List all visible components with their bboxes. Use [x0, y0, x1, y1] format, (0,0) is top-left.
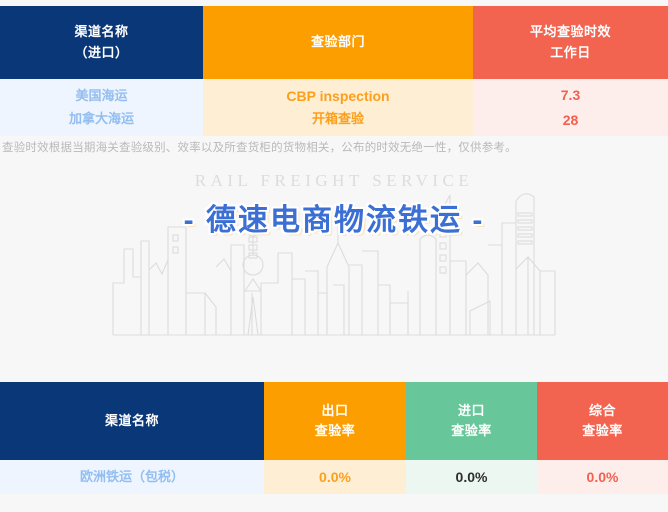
table-header-row: 渠道名称 出口 查验率 进口 查验率 综合 查验率 — [0, 382, 668, 460]
import-rate-value: 0.0% — [456, 469, 488, 485]
cell-channel-name: 美国海运 加拿大海运 — [0, 79, 203, 136]
dept-line-1: CBP inspection — [203, 84, 473, 109]
header-line-2: 查验率 — [264, 421, 406, 441]
days-line-1: 7.3 — [473, 83, 668, 108]
channel-line-1: 美国海运 — [0, 85, 203, 108]
page-root: 渠道名称 （进口） 查验部门 平均查验时效 工作日 美国海运 加拿大海运 — [0, 6, 668, 512]
overall-rate-value: 0.0% — [587, 469, 619, 485]
header-line-2: 查验率 — [537, 421, 668, 441]
cell-inspection-dept: CBP inspection 开箱查验 — [203, 79, 473, 136]
days-line-2: 28 — [473, 108, 668, 133]
banner-title: - 德速电商物流铁运 - — [0, 195, 668, 239]
import-inspection-table: 渠道名称 （进口） 查验部门 平均查验时效 工作日 美国海运 加拿大海运 — [0, 6, 668, 136]
header-line-1: 渠道名称 — [0, 411, 264, 431]
cell-average-time: 7.3 28 — [473, 79, 668, 136]
table-header-row: 渠道名称 （进口） 查验部门 平均查验时效 工作日 — [0, 6, 668, 79]
export-rate-value: 0.0% — [319, 469, 351, 485]
header-line-1: 渠道名称 — [0, 22, 203, 42]
header-line-1: 出口 — [264, 401, 406, 421]
header-line-1: 综合 — [537, 401, 668, 421]
header-cell-channel-name: 渠道名称 （进口） — [0, 6, 203, 79]
header-line-1: 平均查验时效 — [473, 22, 668, 42]
header-cell-overall-rate: 综合 查验率 — [537, 382, 668, 460]
dept-line-2: 开箱查验 — [203, 108, 473, 131]
cell-import-rate: 0.0% — [406, 460, 537, 494]
inspection-rate-table: 渠道名称 出口 查验率 进口 查验率 综合 查验率 欧洲铁运（包税） — [0, 382, 668, 494]
header-cell-import-rate: 进口 查验率 — [406, 382, 537, 460]
channel-line-2: 加拿大海运 — [0, 108, 203, 131]
inspection-disclaimer-note: 查验时效根据当期海关查验级别、效率以及所查货柜的货物相关，公布的时效无绝一性，仅… — [0, 136, 668, 157]
header-line-1: 进口 — [406, 401, 537, 421]
channel-label: 欧洲铁运（包税） — [80, 469, 184, 484]
rail-freight-banner: RAIL FREIGHT SERVICE - 德速电商物流铁运 - — [0, 157, 668, 367]
table-row: 欧洲铁运（包税） 0.0% 0.0% 0.0% — [0, 460, 668, 494]
cell-export-rate: 0.0% — [264, 460, 406, 494]
header-line-2: （进口） — [0, 43, 203, 63]
header-cell-average-time: 平均查验时效 工作日 — [473, 6, 668, 79]
header-line-2: 查验率 — [406, 421, 537, 441]
header-line-2: 工作日 — [473, 43, 668, 63]
banner-subtitle: RAIL FREIGHT SERVICE — [0, 171, 668, 191]
header-line-1: 查验部门 — [203, 32, 473, 52]
header-cell-channel-name: 渠道名称 — [0, 382, 264, 460]
cell-overall-rate: 0.0% — [537, 460, 668, 494]
header-cell-inspection-dept: 查验部门 — [203, 6, 473, 79]
cell-channel-name: 欧洲铁运（包税） — [0, 460, 264, 494]
table-row: 美国海运 加拿大海运 CBP inspection 开箱查验 7.3 28 — [0, 79, 668, 136]
header-cell-export-rate: 出口 查验率 — [264, 382, 406, 460]
